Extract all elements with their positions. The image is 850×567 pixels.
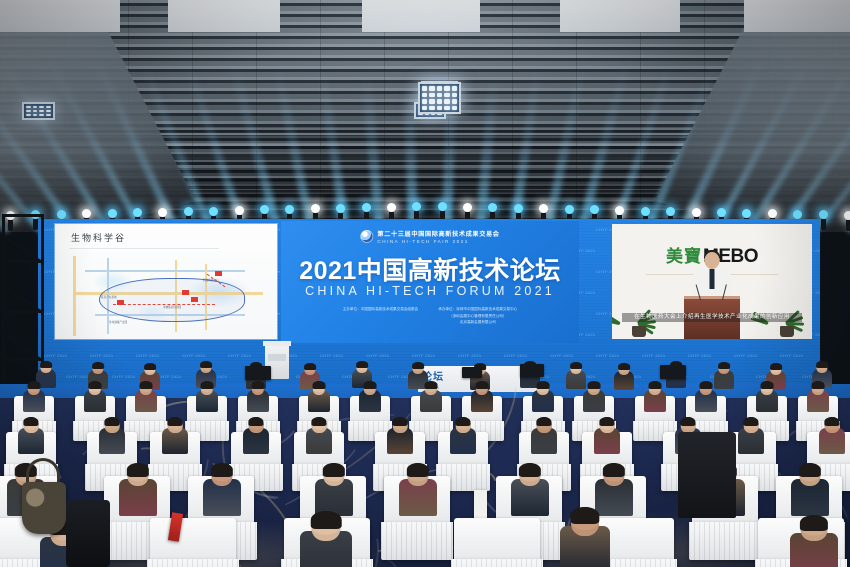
- organizer-line: 主办单位：中国国际高新技术成果交易会组委会: [343, 306, 418, 313]
- forum-title-cn: 2021中国高新技术论坛: [299, 251, 561, 287]
- video-subtitle-bar: 在生物医药大会上介绍再生医学技术产业化成果的创新应用: [622, 313, 802, 322]
- lamp-head: [768, 209, 777, 218]
- person-hair: [304, 363, 316, 370]
- person-hair: [455, 417, 470, 426]
- audience-member: [306, 418, 332, 454]
- person-hair: [23, 417, 38, 426]
- wall-watermark: CHTF 2021: [158, 374, 181, 379]
- hi-tech-fair-globe-icon: [360, 230, 373, 243]
- left-presentation-screen: 生物科学谷 医药产业基地 生物医药创新园 生命健康产业园 科技孵化中心: [55, 224, 277, 339]
- palm-plant-left: [622, 283, 656, 337]
- lamp-head: [717, 208, 726, 217]
- stage-monitor: [462, 367, 482, 378]
- chair-skirt: [381, 522, 452, 560]
- wall-watermark: CHTF 2021: [780, 353, 803, 358]
- map-label: 科技孵化中心: [203, 278, 219, 282]
- audience-member: [807, 382, 829, 412]
- person-hair: [618, 363, 630, 370]
- lamp-head: [488, 203, 497, 212]
- lamp-head: [209, 207, 218, 216]
- map-label: 生物医药创新园: [163, 305, 181, 309]
- wall-watermark: CHTF 2021: [90, 353, 113, 358]
- chair-skirt: [147, 559, 240, 567]
- lamp-head: [362, 203, 371, 212]
- wall-watermark: CHTF 2021: [642, 353, 665, 358]
- audience-member: [387, 418, 413, 454]
- wall-watermark: CHTF 2021: [688, 353, 711, 358]
- lamp-cell: [422, 93, 427, 98]
- person-hair: [356, 361, 368, 368]
- chair-skirt: [689, 522, 760, 560]
- person-hair: [519, 463, 541, 477]
- person-hair: [127, 463, 149, 477]
- map-label: 医药产业基地: [101, 295, 117, 299]
- lamp-cell: [33, 110, 38, 112]
- wall-watermark: CHTF 2021: [412, 353, 435, 358]
- lamp-head: [793, 210, 802, 219]
- organizer-line: （深圳会展中心管理有限责任公司）: [438, 313, 517, 320]
- video-subtitle-text: 在生物医药大会上介绍再生医学技术产业化成果的创新应用: [622, 313, 802, 322]
- person-hair: [92, 362, 104, 369]
- person-hair: [680, 417, 695, 426]
- lamp-cell: [444, 86, 449, 91]
- lamp-cell: [26, 106, 31, 108]
- audience-member: [614, 364, 634, 390]
- audience-member: [714, 363, 734, 389]
- audience-member: [790, 516, 838, 567]
- lamp-head: [590, 205, 599, 214]
- right-video-screen: 美寶 MEBO: [612, 224, 812, 339]
- organizer-block: 承办单位：深圳市中国国际高新技术成果交易中心（深圳会展中心管理有限责任公司）北京…: [438, 306, 517, 326]
- person-hair: [761, 381, 774, 389]
- wall-watermark: CHTF 2021: [458, 353, 481, 358]
- conference-hall-photo: CHTF 2021CHTF 2021CHTF 2021CHTF 2021CHTF…: [0, 0, 850, 567]
- lamp-cell: [452, 86, 457, 91]
- lamp-body: [821, 219, 826, 230]
- audience-member: [399, 464, 437, 516]
- audience-member: [532, 382, 554, 412]
- person-hair: [570, 507, 599, 524]
- lamp-head: [57, 210, 66, 219]
- lamp-cell: [429, 106, 434, 111]
- person-hair: [28, 381, 41, 389]
- lamp-head: [336, 204, 345, 213]
- audience-member: [243, 418, 269, 454]
- map-label: 生命健康产业园: [109, 320, 127, 324]
- stage-light-fixture: [844, 211, 850, 231]
- chair-skirt: [451, 559, 544, 567]
- lamp-cell: [422, 99, 427, 104]
- person-hair: [392, 417, 407, 426]
- audience-member: [819, 418, 845, 454]
- audience-member: [308, 382, 330, 412]
- center-title-screen: 第二十三届中国国际高新技术成果交易会 CHINA HI-TECH FAIR 20…: [281, 221, 579, 343]
- stage-monitor: [245, 366, 271, 380]
- audience-member: [594, 418, 620, 454]
- lamp-cell: [429, 93, 434, 98]
- person-hair: [824, 417, 839, 426]
- speaker-tie: [710, 269, 715, 289]
- audience-member: [23, 382, 45, 412]
- lamp-cell: [39, 106, 44, 108]
- handbag: [22, 482, 66, 534]
- ceiling-light-panel: [22, 102, 56, 120]
- lamp-cell: [26, 110, 31, 112]
- lamp-head: [387, 203, 396, 212]
- lamp-cell: [46, 106, 51, 108]
- map-title: 生物科学谷: [71, 231, 126, 244]
- audience-member: [135, 382, 157, 412]
- audience-member: [695, 382, 717, 412]
- chair-back: [150, 518, 236, 561]
- audience-member: [756, 382, 778, 412]
- audience-chair: [454, 518, 540, 567]
- person-hair: [476, 381, 489, 389]
- lamp-cell: [422, 86, 427, 91]
- wall-watermark: CHTF 2021: [596, 353, 619, 358]
- wall-watermark: CHTF 2021: [734, 353, 757, 358]
- person-hair: [800, 515, 828, 531]
- lamp-cell: [452, 106, 457, 111]
- person-hair: [201, 381, 214, 389]
- person-hair: [536, 417, 551, 426]
- desk-cloth: [560, 0, 680, 32]
- scaffold-tower: [2, 214, 44, 382]
- fair-name-cn: 第二十三届中国国际高新技术成果交易会: [377, 229, 499, 238]
- lamp-head: [311, 204, 320, 213]
- person-hair: [167, 417, 182, 426]
- ceiling-light-panel: [418, 82, 461, 114]
- lamp-head: [158, 208, 167, 217]
- person-hair: [40, 361, 52, 368]
- stage-monitor: [660, 365, 686, 379]
- organizer-line: 北京高新会展有限公司: [438, 319, 517, 326]
- wall-watermark: CHTF 2021: [66, 374, 89, 379]
- wall-watermark: CHTF 2021: [366, 353, 389, 358]
- audience-member: [99, 418, 125, 454]
- lamp-cell: [46, 110, 51, 112]
- person-hair: [412, 362, 424, 369]
- audience-member: [644, 382, 666, 412]
- forum-title-en: CHINA HI-TECH FORUM 2021: [305, 284, 555, 298]
- audience-member: [560, 508, 610, 567]
- audience-chair: [150, 518, 236, 567]
- audience-member: [315, 464, 353, 516]
- lamp-cell: [429, 86, 434, 91]
- person-hair: [570, 362, 582, 369]
- lamp-head: [285, 205, 294, 214]
- lamp-cell: [39, 110, 44, 112]
- audience-member: [18, 418, 44, 454]
- speaker-head: [705, 252, 720, 269]
- lamp-cell: [437, 86, 442, 91]
- person-hair: [144, 363, 156, 370]
- person-hair: [211, 463, 233, 477]
- audience-member: [511, 464, 549, 516]
- person-hair: [364, 381, 377, 389]
- audience-member: [196, 382, 218, 412]
- person-hair: [700, 381, 713, 389]
- lamp-cell: [26, 114, 31, 116]
- wall-watermark: CHTF 2021: [320, 353, 343, 358]
- mebo-brand-cn: 美寶: [666, 242, 702, 267]
- person-hair: [140, 381, 153, 389]
- lamp-head: [514, 204, 523, 213]
- person-hair: [743, 417, 758, 426]
- audience-member: [162, 418, 188, 454]
- person-hair: [599, 417, 614, 426]
- organizer-line: 承办单位：深圳市中国国际高新技术成果交易中心: [438, 306, 517, 313]
- podium-top: [263, 341, 291, 346]
- lamp-cell: [452, 93, 457, 98]
- person-hair: [770, 363, 782, 370]
- audience-member: [531, 418, 557, 454]
- audience-member: [450, 418, 476, 454]
- person-hair: [816, 361, 828, 368]
- audience-member: [738, 418, 764, 454]
- audience-member: [84, 382, 106, 412]
- person-hair: [104, 417, 119, 426]
- lamp-cell: [444, 93, 449, 98]
- palm-plant-right: [770, 283, 804, 337]
- organizer-credits: 主办单位：中国国际高新技术成果交易会组委会承办单位：深圳市中国国际高新技术成果交…: [281, 306, 579, 326]
- audience-member: [583, 382, 605, 412]
- lamp-head: [108, 209, 117, 218]
- lamp-head: [235, 206, 244, 215]
- lamp-cell: [444, 106, 449, 111]
- person-hair: [311, 417, 326, 426]
- lamp-head: [412, 202, 421, 211]
- lamp-head: [666, 207, 675, 216]
- audience-member: [791, 464, 829, 516]
- lamp-head: [260, 205, 269, 214]
- wall-watermark: CHTF 2021: [550, 353, 573, 358]
- audience-member: [471, 382, 493, 412]
- lamp-head: [438, 202, 447, 211]
- person-hair: [812, 381, 825, 389]
- lamp-head: [539, 204, 548, 213]
- person-hair: [588, 381, 601, 389]
- desk-cloth: [744, 0, 850, 32]
- lamp-cell: [444, 99, 449, 104]
- audience-member: [119, 464, 157, 516]
- person-hair: [89, 381, 102, 389]
- lamp-head: [184, 207, 193, 216]
- person-hair: [200, 361, 212, 368]
- lamp-cell: [437, 99, 442, 104]
- lamp-head: [819, 210, 828, 219]
- lamp-head: [463, 203, 472, 212]
- audience-member: [300, 512, 352, 567]
- lamp-cell: [46, 114, 51, 116]
- person-hair: [603, 463, 625, 477]
- fair-logo: 第二十三届中国国际高新技术成果交易会 CHINA HI-TECH FAIR 20…: [360, 229, 499, 244]
- lamp-head: [641, 207, 650, 216]
- stage-monitor: [520, 364, 544, 377]
- lamp-cell: [422, 106, 427, 111]
- audience-member: [359, 382, 381, 412]
- audience-member: [203, 464, 241, 516]
- desk-cloth: [168, 0, 280, 32]
- wall-watermark: CHTF 2021: [504, 353, 527, 358]
- lamp-cell: [33, 114, 38, 116]
- wall-watermark: CHTF 2021: [228, 353, 251, 358]
- person-hair: [311, 511, 342, 529]
- chair-back: [454, 518, 540, 561]
- person-hair: [248, 417, 263, 426]
- audience-member: [247, 382, 269, 412]
- lamp-head: [692, 208, 701, 217]
- person-hair: [425, 381, 438, 389]
- wall-watermark: CHTF 2021: [182, 353, 205, 358]
- lamp-cell: [33, 106, 38, 108]
- organizer-block: 主办单位：中国国际高新技术成果交易会组委会: [343, 306, 418, 326]
- lamp-head: [742, 209, 751, 218]
- lamp-cell: [429, 99, 434, 104]
- audience-member: [420, 382, 442, 412]
- map-title-rule: [69, 248, 219, 249]
- wall-watermark: CHTF 2021: [136, 353, 159, 358]
- fair-name-en: CHINA HI-TECH FAIR 2021: [377, 239, 499, 244]
- person-hair: [252, 381, 265, 389]
- map-canvas: 医药产业基地 生物医药创新园 生命健康产业园 科技孵化中心: [55, 252, 277, 339]
- wall-watermark: CHTF 2021: [44, 353, 67, 358]
- wall-watermark: CHTF 2021: [112, 374, 135, 379]
- person-hair: [313, 381, 326, 389]
- person-hair: [323, 463, 345, 477]
- lamp-head: [615, 206, 624, 215]
- desk-cloth: [0, 0, 120, 32]
- desk-cloth: [362, 0, 480, 32]
- lamp-head: [565, 205, 574, 214]
- lamp-head: [844, 211, 850, 220]
- person-hair: [649, 381, 662, 389]
- lamp-cell: [452, 99, 457, 104]
- person-hair: [407, 463, 429, 477]
- lamp-head: [133, 208, 142, 217]
- lamp-body: [846, 220, 850, 231]
- draped-coat: [66, 500, 110, 567]
- draped-coat: [678, 432, 736, 518]
- lamp-head: [82, 209, 91, 218]
- person-hair: [799, 463, 821, 477]
- lamp-cell: [437, 93, 442, 98]
- person-hair: [537, 381, 550, 389]
- podium-name-plate: [268, 354, 286, 361]
- person-hair: [718, 362, 730, 369]
- lamp-cell: [39, 114, 44, 116]
- lamp-cell: [437, 106, 442, 111]
